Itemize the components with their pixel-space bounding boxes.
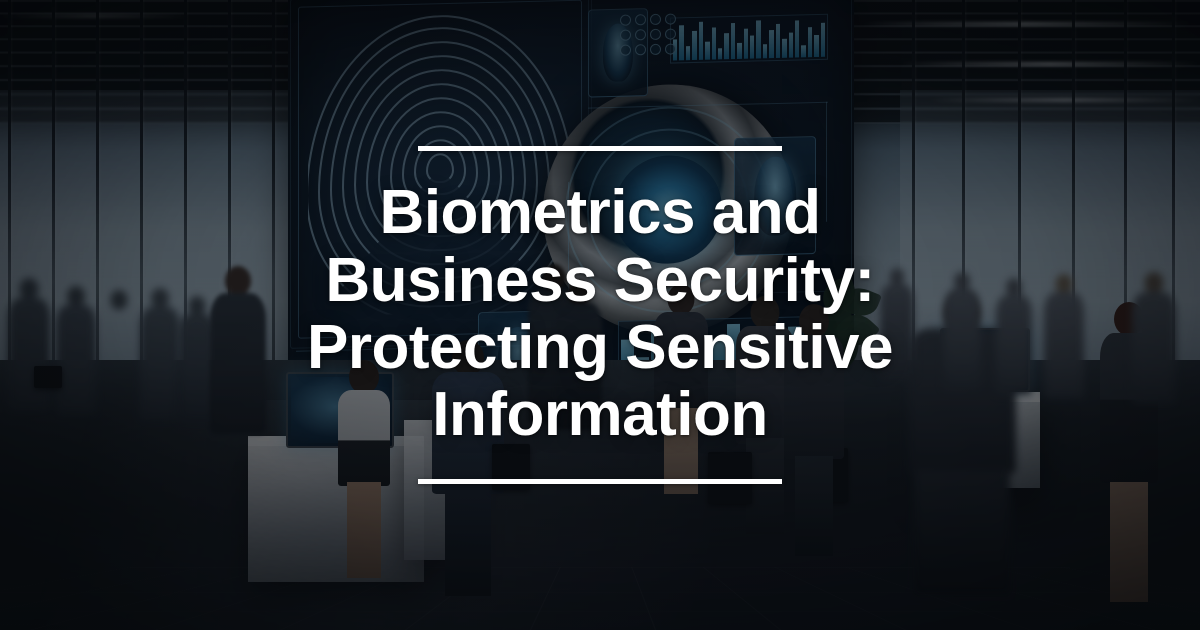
- hero-banner: Biometrics and Business Security: Protec…: [0, 0, 1200, 630]
- title-line-1: Biometrics and: [380, 178, 821, 247]
- title-overlay: Biometrics and Business Security: Protec…: [0, 0, 1200, 630]
- title-line-2: Business Security:: [325, 246, 874, 315]
- title-divider-top: [418, 146, 782, 151]
- title-line-3: Protecting Sensitive: [307, 313, 893, 382]
- page-title: Biometrics and Business Security: Protec…: [267, 179, 933, 448]
- title-line-4: Information: [432, 380, 767, 449]
- title-divider-bottom: [418, 479, 782, 484]
